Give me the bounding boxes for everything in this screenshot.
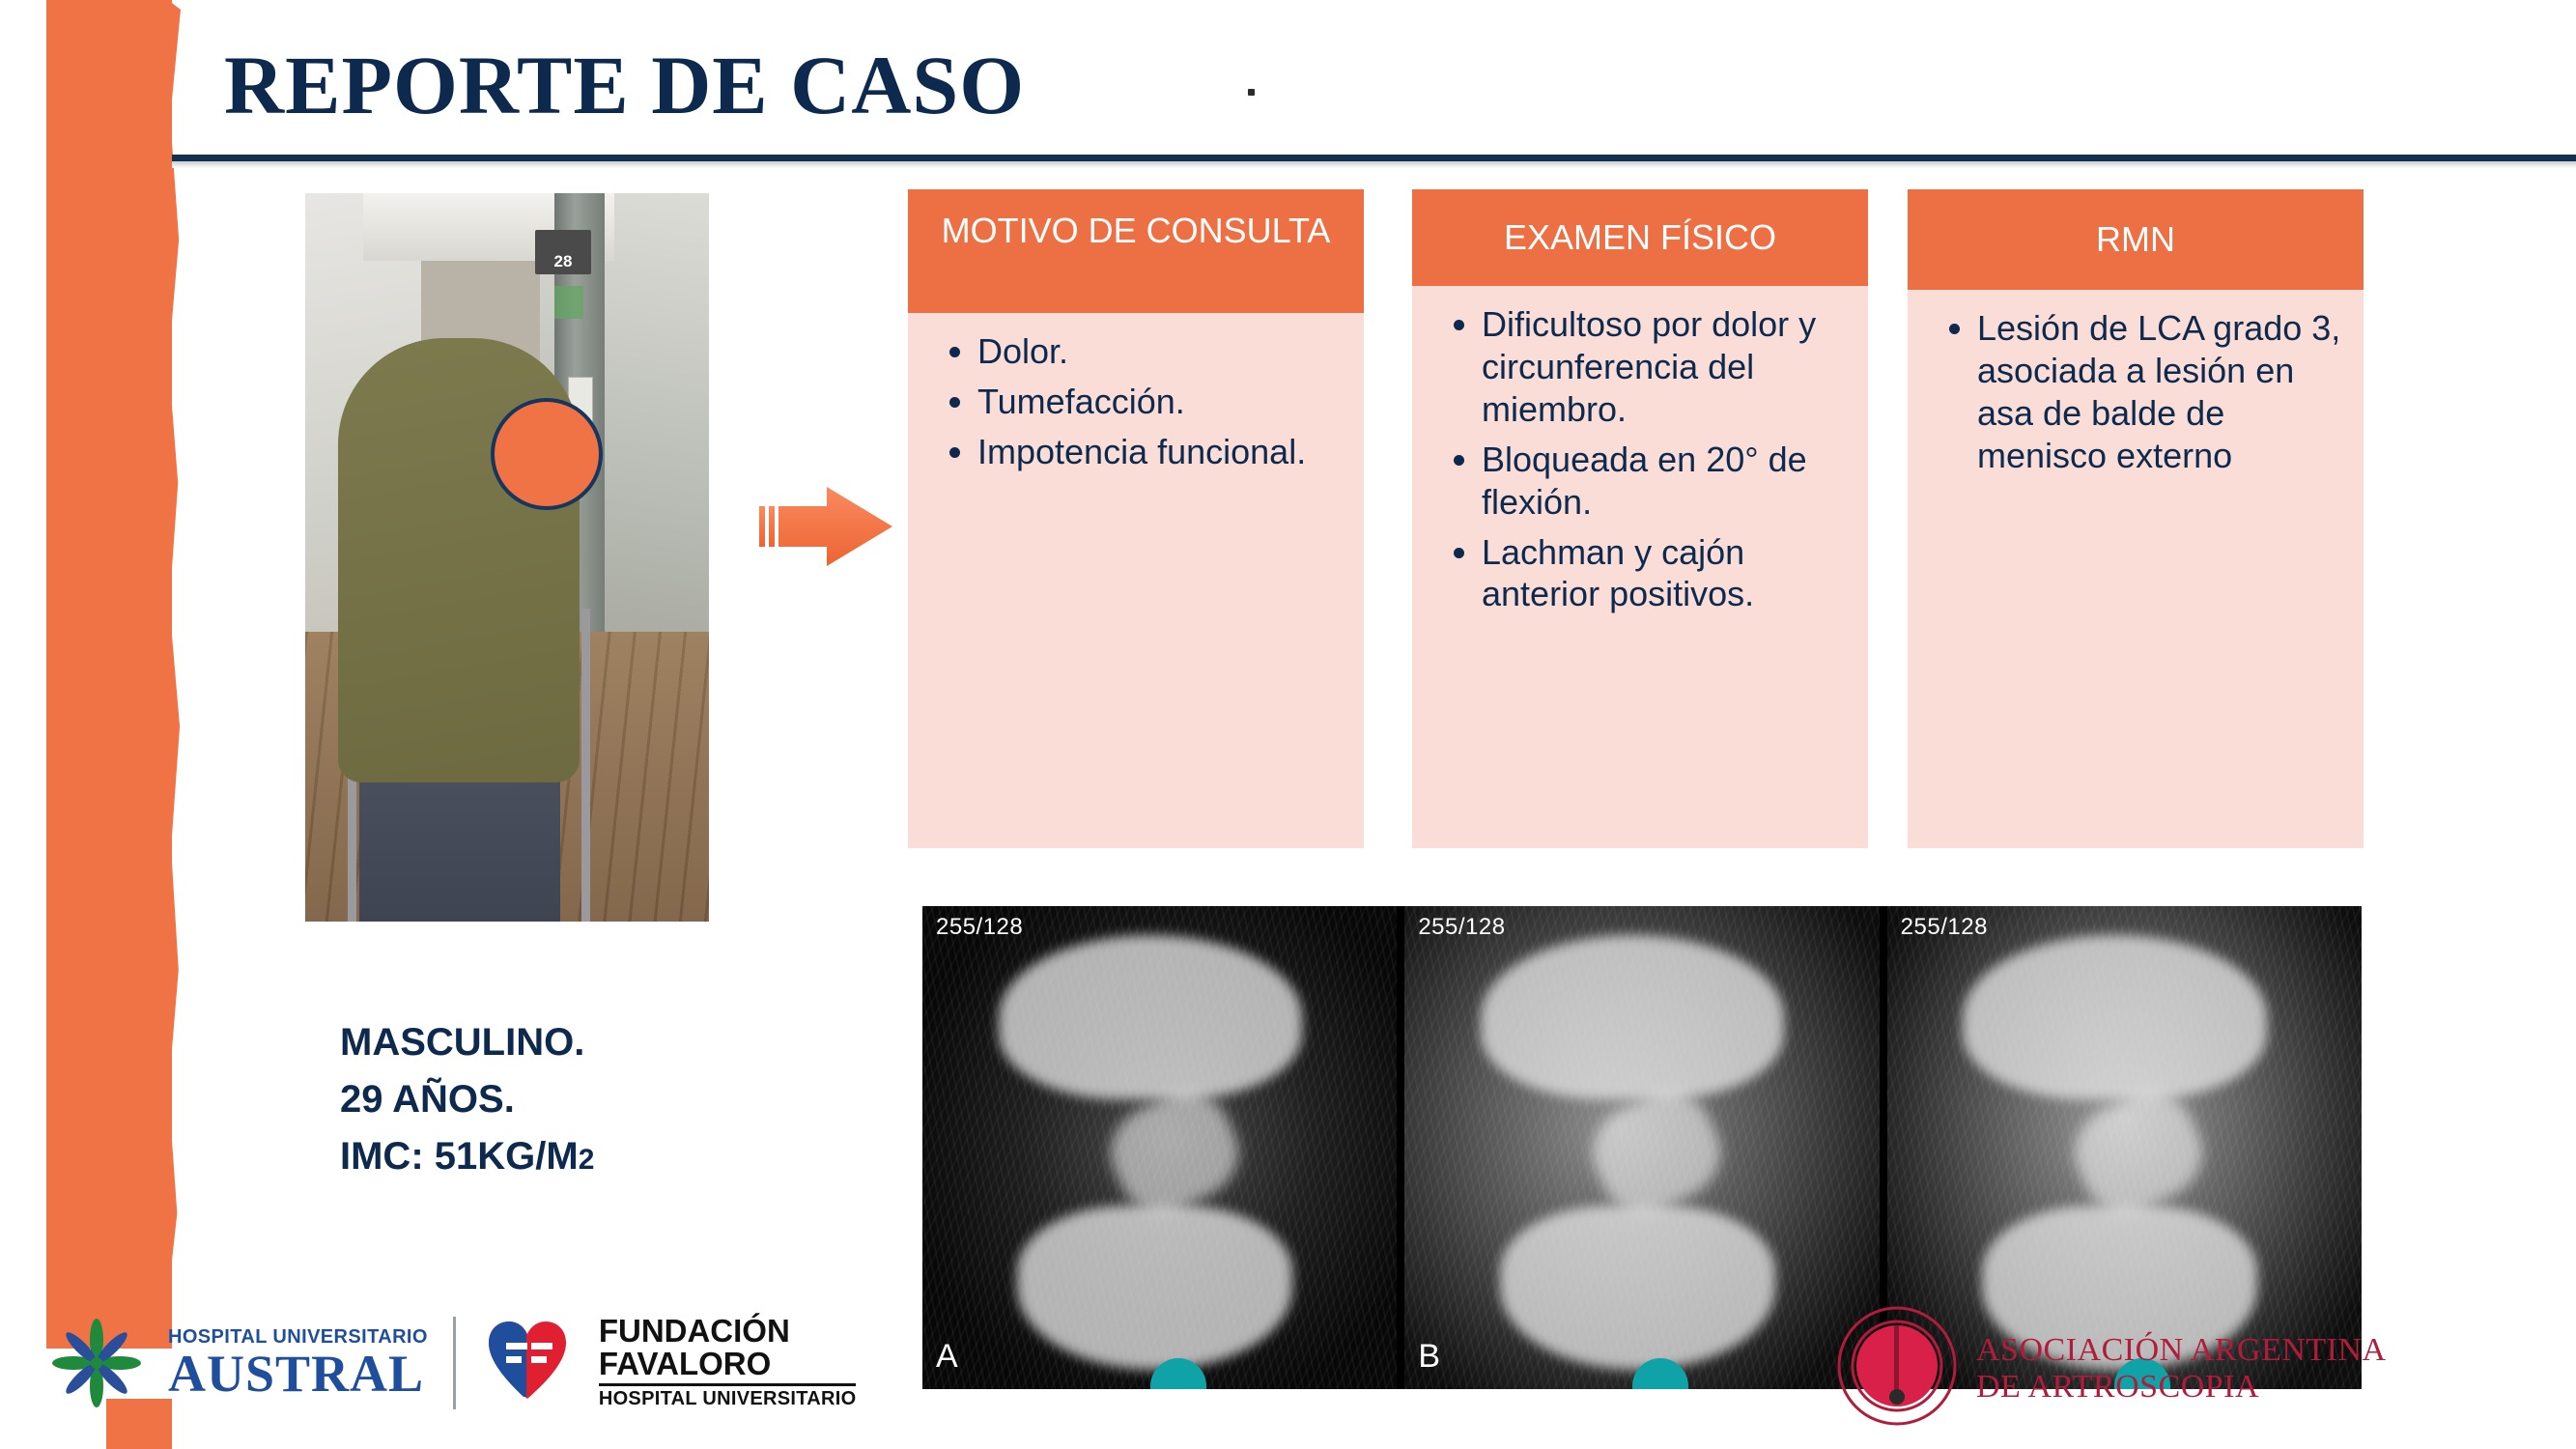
room-number-sign: 28: [535, 230, 591, 274]
list-item: Lesión de LCA grado 3, asociada a lesión…: [1977, 307, 2348, 477]
mri-panel-label: A: [936, 1338, 958, 1376]
mri-bone-lower: [1017, 1206, 1292, 1370]
card-rmn: RMN Lesión de LCA grado 3, asociada a le…: [1908, 189, 2364, 848]
card-motivo-consulta: MOTIVO DE CONSULTA Dolor. Tumefacción. I…: [908, 189, 1364, 848]
favaloro-line2: FAVALORO: [599, 1348, 857, 1380]
mri-window-level: 255/128: [1901, 914, 1988, 941]
list-item: Lachman y cajón anterior positivos.: [1482, 531, 1853, 616]
card-examen-fisico: EXAMEN FÍSICO Dificultoso por dolor y ci…: [1412, 189, 1868, 848]
artroscopia-seal-icon: [1835, 1304, 1959, 1433]
mri-bone-lower: [1500, 1206, 1775, 1370]
list-item: Dificultoso por dolor y circunferencia d…: [1482, 303, 1853, 431]
mri-panel-label: B: [1418, 1338, 1440, 1376]
austral-wordmark: HOSPITAL UNIVERSITARIO AUSTRAL: [168, 1326, 428, 1400]
card-header: MOTIVO DE CONSULTA: [908, 189, 1364, 313]
austral-flower-icon: [50, 1317, 143, 1409]
card-header: RMN: [1908, 189, 2364, 290]
face-redaction-circle: [491, 398, 603, 510]
austral-name: AUSTRAL: [168, 1349, 428, 1400]
exit-sign-icon: [554, 286, 583, 319]
artroscopia-line2: DE ARTROSCOPIA: [1976, 1369, 2387, 1405]
mri-bone-upper: [1481, 935, 1784, 1099]
mri-panel-b: 255/128 B: [1404, 906, 1879, 1389]
mri-ligament: [1578, 1079, 1734, 1226]
mri-window-level: 255/128: [936, 914, 1023, 941]
list-item: Dolor.: [977, 330, 1348, 373]
accent-fleck: [170, 267, 175, 288]
favaloro-line1: FUNDACIÓN: [599, 1315, 857, 1348]
patient-info: MASCULINO. 29 AÑOS. IMC: 51KG/M2: [340, 1014, 594, 1184]
favaloro-heart-icon: [481, 1314, 574, 1411]
title-underline-shadow: [172, 161, 2576, 168]
title-dot: [1248, 89, 1255, 96]
list-item: Bloqueada en 20° de flexión.: [1482, 439, 1853, 524]
patient-age: 29 AÑOS.: [340, 1071, 594, 1128]
asociacion-artroscopia-logo: ASOCIACIÓN ARGENTINA DE ARTROSCOPIA: [1835, 1304, 2387, 1433]
patient-bmi: IMC: 51KG/M2: [340, 1128, 594, 1185]
logo-divider: [453, 1317, 456, 1409]
card-bullet-list: Lesión de LCA grado 3, asociada a lesión…: [1925, 307, 2348, 477]
card-body: Dolor. Tumefacción. Impotencia funcional…: [908, 313, 1364, 848]
accent-fleck: [170, 220, 175, 249]
list-item: Impotencia funcional.: [977, 431, 1348, 473]
crutch-right: [581, 609, 590, 922]
left-accent-bar: [46, 0, 172, 1349]
card-body: Lesión de LCA grado 3, asociada a lesión…: [1908, 290, 2364, 848]
mri-panel-a: 255/128 A: [922, 906, 1397, 1389]
accent-fleck: [170, 189, 175, 199]
card-body: Dificultoso por dolor y circunferencia d…: [1412, 286, 1868, 848]
flow-arrow-icon: [753, 473, 898, 580]
card-header: EXAMEN FÍSICO: [1412, 189, 1868, 286]
mri-ligament: [2060, 1079, 2216, 1226]
title-underline: [172, 155, 2576, 161]
mri-bone-upper: [1963, 935, 2266, 1099]
favaloro-wordmark: FUNDACIÓN FAVALORO HOSPITAL UNIVERSITARI…: [599, 1315, 857, 1411]
mri-window-level: 255/128: [1418, 914, 1505, 941]
card-bullet-list: Dolor. Tumefacción. Impotencia funcional…: [925, 330, 1348, 473]
mri-ligament: [1096, 1079, 1252, 1226]
list-item: Tumefacción.: [977, 381, 1348, 423]
favaloro-subtitle: HOSPITAL UNIVERSITARIO: [599, 1383, 857, 1410]
patient-sex: MASCULINO.: [340, 1014, 594, 1071]
patient-photo: 28: [305, 193, 709, 922]
artroscopia-wordmark: ASOCIACIÓN ARGENTINA DE ARTROSCOPIA: [1976, 1332, 2387, 1405]
mri-bone-upper: [999, 935, 1302, 1099]
bmi-superscript: 2: [579, 1144, 595, 1176]
card-bullet-list: Dificultoso por dolor y circunferencia d…: [1430, 303, 1853, 615]
artroscopia-line1: ASOCIACIÓN ARGENTINA: [1976, 1332, 2387, 1368]
institution-logos: HOSPITAL UNIVERSITARIO AUSTRAL FUNDACIÓN…: [50, 1314, 856, 1411]
page-title: REPORTE DE CASO: [224, 37, 1025, 133]
